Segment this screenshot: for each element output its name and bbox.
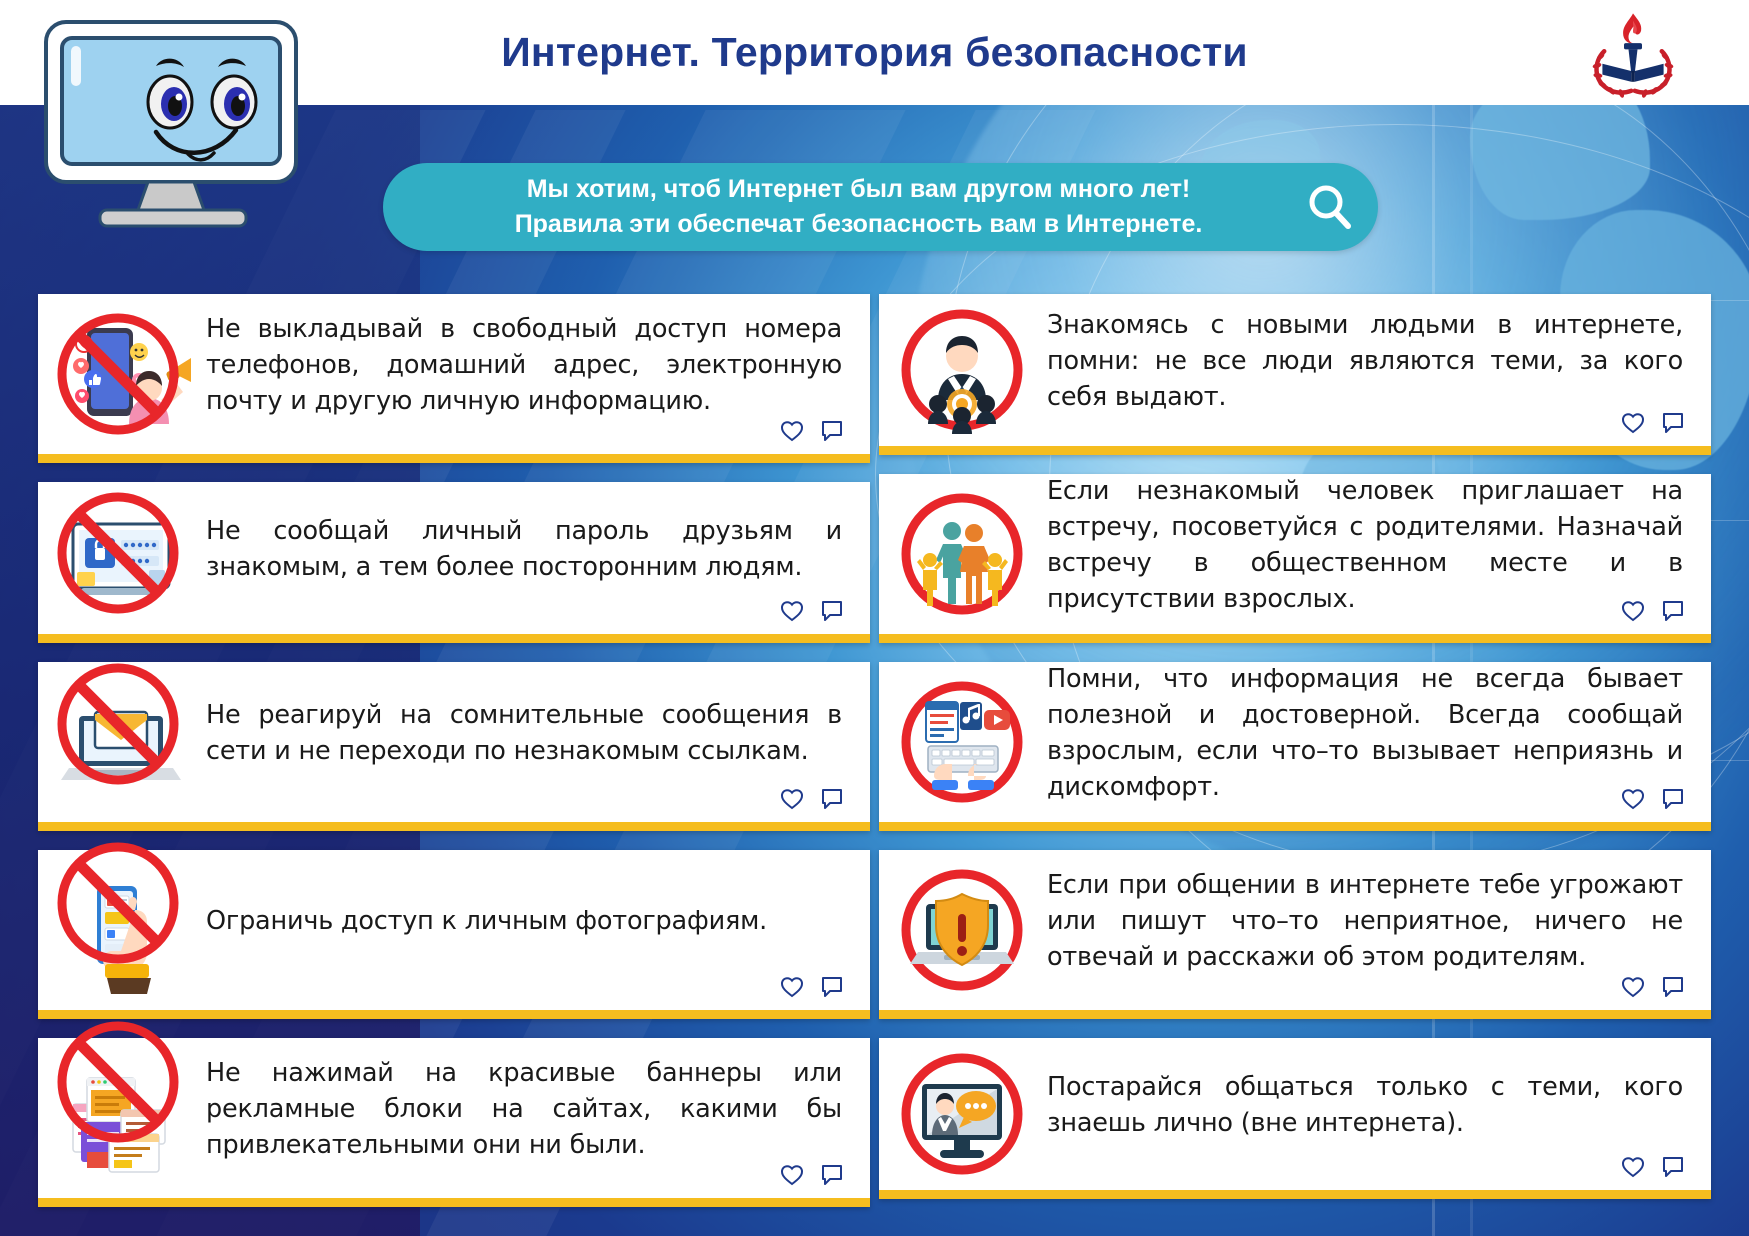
rule-card[interactable]: Ограничь доступ к личным фотографиям. (38, 850, 870, 1019)
card-actions (780, 600, 844, 622)
speech-bubble-icon[interactable] (1661, 600, 1685, 622)
smiling-computer-mascot (38, 18, 328, 240)
rule-text: Ограничь доступ к личным фотографиям. (198, 887, 870, 973)
card-actions (1621, 1156, 1685, 1178)
ad-banners-prohibited-icon (46, 1043, 196, 1193)
speech-bubble-icon[interactable] (820, 976, 844, 998)
phone-social-reactions-prohibited-icon (46, 299, 196, 449)
rules-column-left: Не выкладывай в свободный доступ номера … (38, 294, 870, 1226)
heart-icon[interactable] (780, 976, 804, 998)
rule-card[interactable]: Не реагируй на сомнительные сообщения в … (38, 662, 870, 831)
family-group-icon (887, 479, 1037, 629)
rule-card[interactable]: Не выкладывай в свободный доступ номера … (38, 294, 870, 463)
search-button[interactable] (1282, 181, 1378, 233)
card-actions (780, 1164, 844, 1186)
search-banner-line1: Мы хотим, чтоб Интернет был вам другом м… (435, 172, 1282, 208)
speech-bubble-icon[interactable] (820, 420, 844, 442)
speech-bubble-icon[interactable] (1661, 412, 1685, 434)
hand-holding-phone-prohibited-icon (46, 855, 196, 1005)
card-actions (780, 976, 844, 998)
rule-card[interactable]: Не сообщай личный пароль друзьям и знако… (38, 482, 870, 643)
rule-text: Если незнакомый человек приглашает на вс… (1039, 457, 1711, 652)
speech-bubble-icon[interactable] (820, 788, 844, 810)
card-actions (1621, 788, 1685, 810)
rule-card[interactable]: Знакомясь с новыми людьми в интернете, п… (879, 294, 1711, 455)
media-content-keyboard-icon (887, 667, 1037, 817)
search-banner-text: Мы хотим, чтоб Интернет был вам другом м… (383, 172, 1282, 243)
card-actions (1621, 600, 1685, 622)
heart-icon[interactable] (1621, 600, 1645, 622)
speech-bubble-icon[interactable] (820, 1164, 844, 1186)
rule-text: Постарайся общаться только с теми, кого … (1039, 1053, 1711, 1175)
card-actions (1621, 976, 1685, 998)
rule-text: Помни, что информация не всегда бывает п… (1039, 645, 1711, 840)
speech-bubble-icon[interactable] (1661, 788, 1685, 810)
rule-card[interactable]: Если при общении в интернете тебе угрожа… (879, 850, 1711, 1019)
rule-card[interactable]: Если незнакомый человек приглашает на вс… (879, 474, 1711, 643)
laptop-warning-shield-icon (887, 855, 1037, 1005)
rule-text: Знакомясь с новыми людьми в интернете, п… (1039, 291, 1711, 450)
heart-icon[interactable] (780, 1164, 804, 1186)
rule-text: Не реагируй на сомнительные сообщения в … (198, 681, 870, 803)
rule-card[interactable]: Помни, что информация не всегда бывает п… (879, 662, 1711, 831)
heart-icon[interactable] (780, 600, 804, 622)
search-banner[interactable]: Мы хотим, чтоб Интернет был вам другом м… (383, 163, 1378, 251)
search-icon (1304, 181, 1356, 233)
password-monitor-prohibited-icon (46, 483, 196, 633)
email-laptop-prohibited-icon (46, 667, 196, 817)
rule-text: Не нажимай на красивые баннеры или рекла… (198, 1039, 870, 1198)
heart-icon[interactable] (1621, 976, 1645, 998)
rule-text: Если при общении в интернете тебе угрожа… (1039, 851, 1711, 1010)
rule-text: Не выкладывай в свободный доступ номера … (198, 295, 870, 454)
monitor-person-chat-icon (887, 1039, 1037, 1189)
search-banner-line2: Правила эти обеспечат безопасность вам в… (435, 207, 1282, 243)
heart-icon[interactable] (1621, 412, 1645, 434)
rule-card[interactable]: Постарайся общаться только с теми, кого … (879, 1038, 1711, 1199)
card-actions (780, 788, 844, 810)
card-actions (1621, 412, 1685, 434)
speech-bubble-icon[interactable] (1661, 976, 1685, 998)
rule-card[interactable]: Не нажимай на красивые баннеры или рекла… (38, 1038, 870, 1207)
rule-text: Не сообщай личный пароль друзьям и знако… (198, 497, 870, 619)
speech-bubble-icon[interactable] (820, 600, 844, 622)
man-with-crowd-icon (887, 295, 1037, 445)
heart-icon[interactable] (780, 788, 804, 810)
card-actions (780, 420, 844, 442)
torch-book-laurel-logo (1587, 8, 1679, 98)
speech-bubble-icon[interactable] (1661, 1156, 1685, 1178)
heart-icon[interactable] (1621, 1156, 1645, 1178)
heart-icon[interactable] (780, 420, 804, 442)
heart-icon[interactable] (1621, 788, 1645, 810)
rules-column-right: Знакомясь с новыми людьми в интернете, п… (879, 294, 1711, 1218)
